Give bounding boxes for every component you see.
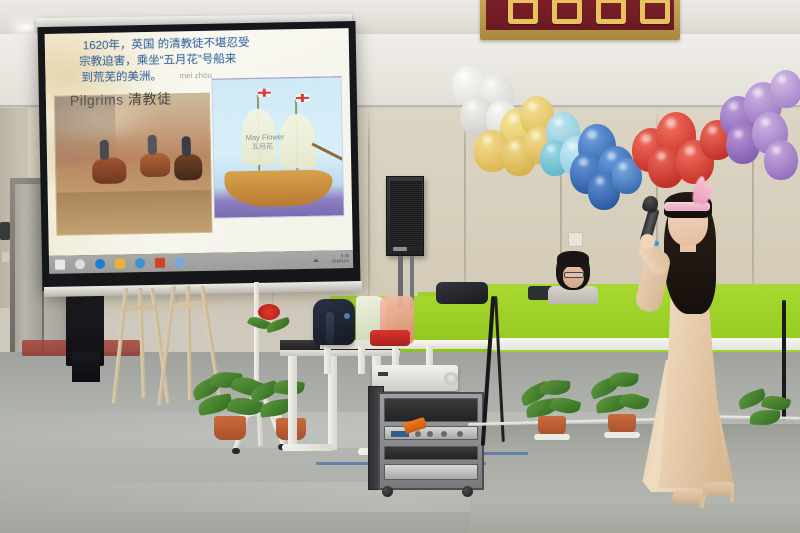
shoe-heel bbox=[730, 488, 734, 502]
ship-hull bbox=[224, 169, 333, 207]
taskbar-clock[interactable]: 9:38 2016/11/1 bbox=[331, 253, 349, 263]
elevator-call-panel[interactable] bbox=[0, 222, 10, 240]
rack-caster bbox=[382, 486, 393, 497]
dark-duffel-bag bbox=[436, 282, 488, 304]
painting-rider bbox=[100, 140, 109, 160]
standing-person-legs bbox=[72, 352, 100, 382]
green-panel-white-stripe bbox=[470, 338, 800, 350]
backpack-logo bbox=[344, 313, 350, 319]
slide-heading: Pilgrims 清教徒 bbox=[70, 89, 172, 111]
seated-person-hair bbox=[557, 251, 589, 267]
painting-rider bbox=[148, 135, 157, 155]
slide-image-mayflower: May Flower 五月花 bbox=[212, 76, 345, 218]
window-preview-icon[interactable] bbox=[175, 257, 185, 267]
mixer-knob[interactable] bbox=[415, 431, 421, 437]
ship-flag-england bbox=[258, 89, 271, 97]
windows-start-icon[interactable] bbox=[55, 260, 65, 270]
painting-rider bbox=[182, 136, 191, 156]
presenter-hand bbox=[640, 234, 655, 249]
plant-pot bbox=[608, 414, 636, 434]
rack-unit-player bbox=[384, 446, 478, 460]
projector-lens bbox=[444, 372, 458, 385]
edge-browser-icon[interactable] bbox=[95, 259, 105, 269]
balloon-lavender bbox=[764, 140, 798, 180]
rack-unit-drawer[interactable] bbox=[384, 464, 478, 480]
ship-label-english: May Flower bbox=[246, 132, 285, 142]
backpack-strap bbox=[326, 312, 334, 344]
powerpoint-icon[interactable] bbox=[155, 258, 165, 268]
rail-post bbox=[358, 346, 365, 374]
plant-pot bbox=[538, 416, 566, 436]
plant-leaf bbox=[540, 379, 571, 396]
chrome-browser-icon[interactable] bbox=[135, 258, 145, 268]
painting-horse bbox=[140, 153, 170, 178]
painting-foreground bbox=[57, 190, 213, 236]
potted-plant-green-wall-1 bbox=[520, 380, 590, 442]
mixer-knob[interactable] bbox=[441, 431, 447, 437]
clock-date: 2016/11/1 bbox=[331, 258, 349, 263]
mixer-knob[interactable] bbox=[427, 431, 433, 437]
table-leg bbox=[288, 356, 297, 450]
shoe-heel bbox=[700, 494, 704, 508]
elevator-indicator bbox=[2, 252, 9, 262]
speaker-badge bbox=[393, 247, 407, 251]
rack-unit-mixer bbox=[384, 426, 478, 440]
mixer-knob[interactable] bbox=[457, 431, 463, 437]
rail-post bbox=[324, 346, 331, 374]
projection-screen[interactable]: 1620年，英国 的清教徒不堪忍受 宗教迫害，乘坐“五月花”号船来 到荒芜的美洲… bbox=[37, 21, 360, 291]
file-explorer-icon[interactable] bbox=[115, 258, 125, 268]
slide-body-line-3: 到荒芜的美洲。 bbox=[81, 70, 162, 87]
av-equipment-rack bbox=[378, 392, 484, 490]
projector-vent bbox=[378, 372, 388, 376]
slide-pinyin-annotation: mei zhou bbox=[179, 71, 212, 81]
chevron-up-icon[interactable] bbox=[313, 259, 319, 262]
plant-leaf bbox=[618, 390, 649, 413]
plant-saucer bbox=[604, 432, 640, 438]
potted-plant-green-wall-2 bbox=[586, 372, 660, 442]
seated-person-glasses bbox=[564, 272, 584, 278]
ship-label-chinese: 五月花 bbox=[252, 142, 273, 152]
ship-bowsprit bbox=[311, 143, 344, 164]
ship-flag-england bbox=[296, 94, 309, 102]
cortana-search-icon[interactable] bbox=[75, 259, 85, 269]
presentation-slide: 1620年，英国 的清教徒不堪忍受 宗教迫害，乘坐“五月花”号船来 到荒芜的美洲… bbox=[45, 28, 353, 256]
red-flowers bbox=[248, 300, 292, 344]
presentation-room-scene: 1620年，英国 的清教徒不堪忍受 宗教迫害，乘坐“五月花”号船来 到荒芜的美洲… bbox=[0, 0, 800, 533]
slide-heading-english: Pilgrims bbox=[70, 91, 124, 108]
plant-saucer bbox=[534, 434, 570, 440]
slide-heading-chinese: 清教徒 bbox=[128, 91, 172, 108]
table-foot-bar bbox=[282, 444, 334, 451]
speaker-grille bbox=[390, 181, 422, 247]
plant-pot bbox=[214, 416, 246, 440]
wall-speaker bbox=[386, 176, 424, 256]
plant-leaf bbox=[750, 409, 781, 425]
painting-horse bbox=[174, 154, 202, 181]
slide-image-battle-painting bbox=[54, 93, 213, 236]
slide-body-line-2: 宗教迫害，乘坐“五月花”号船来 bbox=[79, 52, 236, 70]
painting-horse bbox=[92, 157, 126, 184]
rack-unit-amplifier bbox=[384, 398, 478, 422]
rack-caster bbox=[462, 486, 473, 497]
tripod-foot bbox=[232, 448, 240, 454]
potted-plant-green-wall-3 bbox=[736, 388, 800, 438]
black-backpack bbox=[313, 299, 355, 345]
balloon-lavender bbox=[770, 70, 800, 108]
red-bag bbox=[370, 330, 410, 346]
ship-sail bbox=[279, 114, 316, 169]
